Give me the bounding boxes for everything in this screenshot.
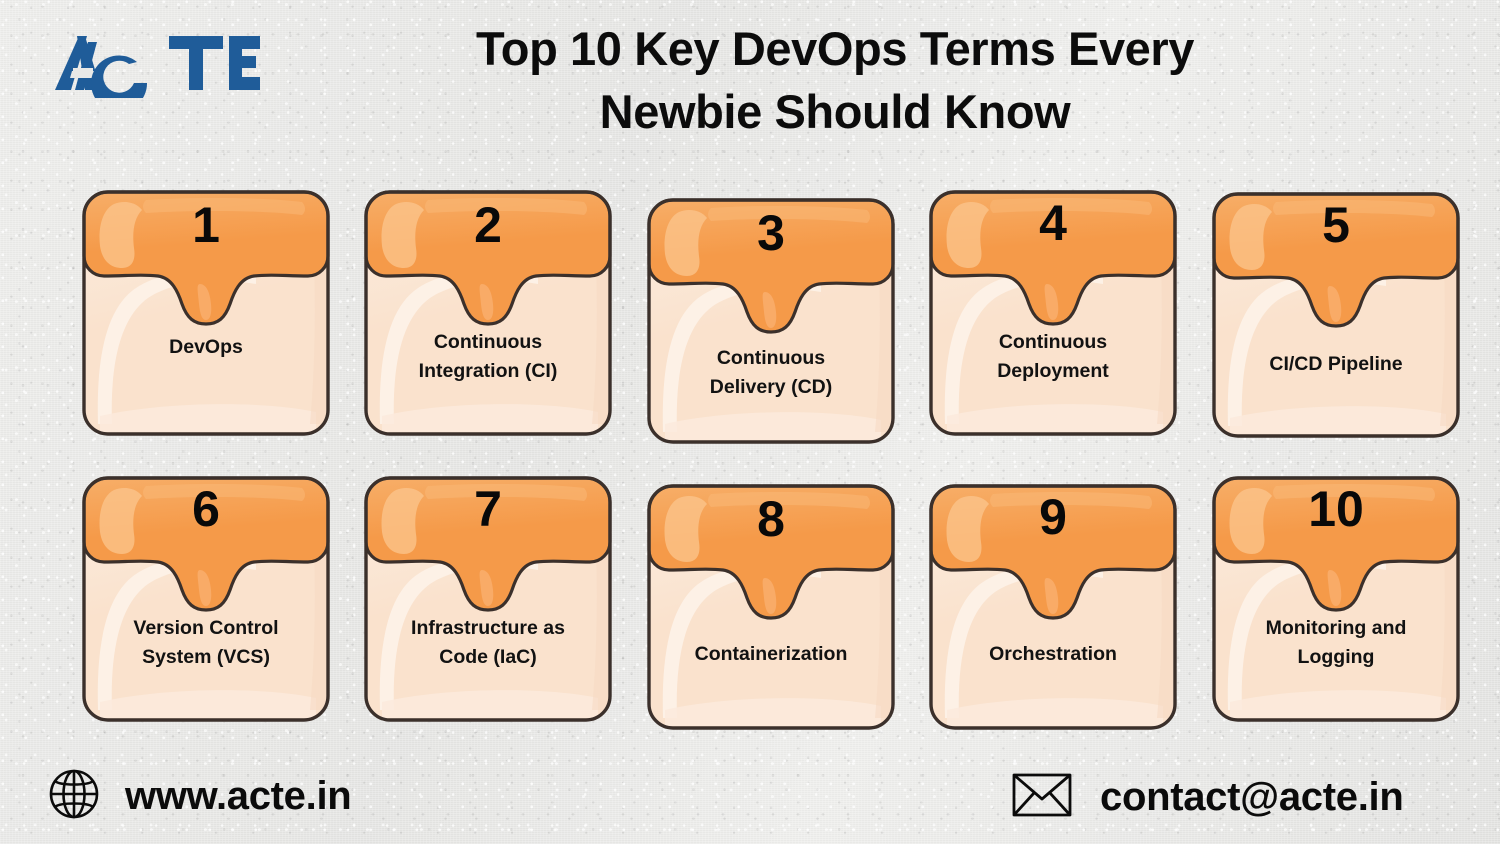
term-card-4[interactable]: 4ContinuousDeployment bbox=[927, 188, 1179, 438]
card-number: 5 bbox=[1210, 200, 1462, 250]
card-label-line: Continuous bbox=[939, 328, 1167, 357]
card-number: 3 bbox=[645, 208, 897, 258]
card-label-line: Deployment bbox=[939, 357, 1167, 386]
term-card-3[interactable]: 3ContinuousDelivery (CD) bbox=[645, 196, 897, 446]
website-text: www.acte.in bbox=[125, 774, 351, 819]
term-card-10[interactable]: 10Monitoring andLogging bbox=[1210, 474, 1462, 724]
page-title-line-2: Newbie Should Know bbox=[330, 81, 1340, 144]
card-number: 1 bbox=[80, 200, 332, 250]
acte-logo bbox=[47, 28, 262, 98]
card-label: Infrastructure asCode (IaC) bbox=[374, 614, 602, 672]
card-label: DevOps bbox=[92, 333, 320, 362]
term-card-1[interactable]: 1DevOps bbox=[80, 188, 332, 438]
card-label-line: Orchestration bbox=[939, 640, 1167, 669]
term-card-6[interactable]: 6Version ControlSystem (VCS) bbox=[80, 474, 332, 724]
card-label-line: Integration (CI) bbox=[374, 357, 602, 386]
term-card-9[interactable]: 9Orchestration bbox=[927, 482, 1179, 732]
card-label: Monitoring andLogging bbox=[1222, 614, 1450, 672]
page-title: Top 10 Key DevOps Terms Every Newbie Sho… bbox=[330, 18, 1340, 143]
card-label: Version ControlSystem (VCS) bbox=[92, 614, 320, 672]
card-label-line: Version Control bbox=[92, 614, 320, 643]
infographic-page: Top 10 Key DevOps Terms Every Newbie Sho… bbox=[0, 0, 1500, 844]
email-text: contact@acte.in bbox=[1100, 775, 1403, 820]
card-number: 4 bbox=[927, 198, 1179, 248]
footer-website[interactable]: www.acte.in bbox=[48, 768, 351, 825]
globe-icon bbox=[48, 768, 100, 825]
card-label-line: System (VCS) bbox=[92, 643, 320, 672]
card-label-line: Monitoring and bbox=[1222, 614, 1450, 643]
card-label: CI/CD Pipeline bbox=[1222, 350, 1450, 379]
card-label-line: CI/CD Pipeline bbox=[1222, 350, 1450, 379]
card-label: ContinuousDeployment bbox=[939, 328, 1167, 386]
card-label-line: Logging bbox=[1222, 643, 1450, 672]
card-label: ContinuousDelivery (CD) bbox=[657, 344, 885, 402]
term-card-8[interactable]: 8Containerization bbox=[645, 482, 897, 732]
card-label: Orchestration bbox=[939, 640, 1167, 669]
card-number: 7 bbox=[362, 484, 614, 534]
term-card-2[interactable]: 2ContinuousIntegration (CI) bbox=[362, 188, 614, 438]
card-number: 10 bbox=[1210, 484, 1462, 534]
card-number: 8 bbox=[645, 494, 897, 544]
card-number: 6 bbox=[80, 484, 332, 534]
term-card-7[interactable]: 7Infrastructure asCode (IaC) bbox=[362, 474, 614, 724]
card-label-line: Continuous bbox=[374, 328, 602, 357]
page-title-line-1: Top 10 Key DevOps Terms Every bbox=[330, 18, 1340, 81]
envelope-icon bbox=[1012, 772, 1072, 823]
footer-email[interactable]: contact@acte.in bbox=[1012, 772, 1403, 823]
card-label-line: DevOps bbox=[92, 333, 320, 362]
card-label: ContinuousIntegration (CI) bbox=[374, 328, 602, 386]
card-label-line: Containerization bbox=[657, 640, 885, 669]
card-number: 9 bbox=[927, 492, 1179, 542]
term-card-5[interactable]: 5CI/CD Pipeline bbox=[1210, 190, 1462, 440]
card-label-line: Delivery (CD) bbox=[657, 373, 885, 402]
card-label-line: Infrastructure as bbox=[374, 614, 602, 643]
card-number: 2 bbox=[362, 200, 614, 250]
card-label-line: Continuous bbox=[657, 344, 885, 373]
card-label: Containerization bbox=[657, 640, 885, 669]
card-label-line: Code (IaC) bbox=[374, 643, 602, 672]
